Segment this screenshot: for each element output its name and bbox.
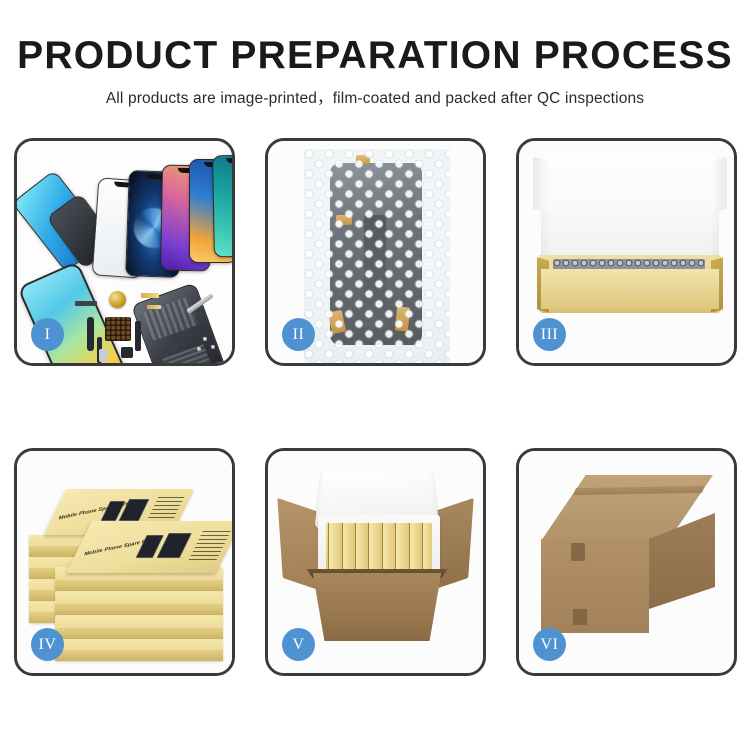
speaker-component <box>109 291 126 308</box>
step-panel-5[interactable]: V Boxes packed inside foam container wit… <box>265 448 486 676</box>
sim-tray-part <box>99 349 108 362</box>
step-panel-3[interactable]: III Yellow kraft box with white foam she… <box>516 138 737 366</box>
step-badge-2: II <box>282 318 315 351</box>
stacked-box <box>55 591 223 615</box>
bubble-wrap-bag <box>304 149 450 363</box>
printed-box-lid: Mobile Phone Spare Parts <box>66 521 232 573</box>
bubble-texture <box>304 149 450 363</box>
process-steps-grid: I Assorted mobile phone screens, back co… <box>0 138 750 683</box>
carton-tape-lower <box>573 609 587 625</box>
stacked-box <box>55 615 223 639</box>
step-badge-1: I <box>31 318 64 351</box>
carton-tape-upper <box>571 543 585 561</box>
step-badge-3: III <box>533 318 566 351</box>
step-badge-4: IV <box>31 628 64 661</box>
camera-module-part <box>121 347 133 358</box>
box-spec-lines <box>187 531 231 563</box>
phone-screen-teal <box>212 155 232 258</box>
carton-left-face <box>541 539 649 633</box>
packed-yellow-boxes <box>326 523 432 573</box>
page-subtitle: All products are image-printed，film-coat… <box>0 86 750 108</box>
battery-connector-part <box>75 301 97 306</box>
page-header: PRODUCT PREPARATION PROCESS All products… <box>0 0 750 108</box>
stacked-box <box>55 639 223 661</box>
step-panel-4[interactable]: Mobile Phone Spare Parts Mobile Phone Sp… <box>14 448 235 676</box>
step-panel-2[interactable]: II Single part sealed in bubble wrap bag <box>265 138 486 366</box>
step-badge-6: VI <box>533 628 566 661</box>
chip-grid-part <box>105 317 131 341</box>
box-front-panel <box>541 269 719 309</box>
screw-part <box>197 347 201 351</box>
screw-part <box>211 345 215 349</box>
carton-front-wall <box>304 573 450 641</box>
flex-cable-part <box>135 321 141 351</box>
flex-cable-part <box>87 317 94 351</box>
step-badge-5: V <box>282 628 315 661</box>
page-title: PRODUCT PREPARATION PROCESS <box>0 36 750 77</box>
step-panel-6[interactable]: VI Sealed brown shipping carton ready fo… <box>516 448 737 676</box>
foam-sheet <box>549 187 711 263</box>
gold-contact-part <box>141 293 159 298</box>
screw-part <box>203 337 207 341</box>
step-panel-1[interactable]: I Assorted mobile phone screens, back co… <box>14 138 235 366</box>
gold-contact-part <box>147 305 161 309</box>
